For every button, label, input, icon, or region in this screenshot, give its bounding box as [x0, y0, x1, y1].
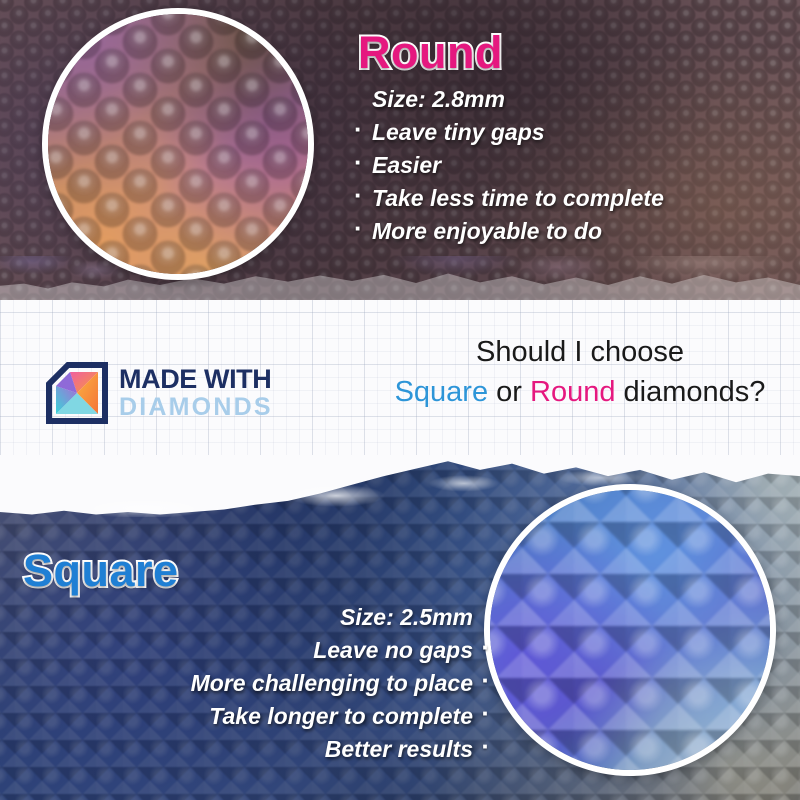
brand-name-line2: DIAMONDS [119, 395, 273, 420]
headline-square-word: Square [395, 376, 489, 408]
square-bullet-3: Take longer to complete [20, 700, 490, 733]
square-bullet-2: More challenging to place [20, 667, 490, 700]
square-title-wrap: Square [20, 548, 490, 593]
round-bullet-3: Take less time to complete [358, 182, 798, 215]
diamond-gem-icon [46, 362, 108, 424]
headline-question: Should I choose Square or Round diamonds… [380, 332, 780, 412]
headline-line-1: Should I choose [380, 332, 780, 372]
headline-line-2: Square or Round diamonds? [380, 372, 780, 412]
headline-conjunction: or [488, 376, 530, 408]
square-size-row: Size: 2.5mm [20, 601, 490, 634]
headline-line-1-text: Should I choose [476, 336, 684, 368]
square-section-title: Square [23, 545, 179, 596]
brand-name-line1: MADE WITH [119, 366, 273, 393]
brand-logo[interactable]: MADE WITH DIAMONDS [46, 362, 273, 424]
round-diamonds-magnifier-circle [42, 8, 314, 280]
square-bullet-1: Leave no gaps [20, 634, 490, 667]
round-section-title: Round [358, 30, 798, 75]
round-bullet-2: Easier [358, 149, 798, 182]
round-bullet-4: More enjoyable to do [358, 215, 798, 248]
round-circle-beads-offset [42, 8, 314, 280]
brand-logo-text: MADE WITH DIAMONDS [119, 366, 273, 420]
headline-round-word: Round [530, 376, 615, 408]
round-feature-list: Size: 2.8mm Leave tiny gaps Easier Take … [358, 83, 798, 248]
infographic-canvas: Round Size: 2.8mm Leave tiny gaps Easier… [0, 0, 800, 800]
square-bullet-4: Better results [20, 733, 490, 766]
square-info-panel: Square Size: 2.5mm Leave no gaps More ch… [20, 548, 490, 766]
round-size-row: Size: 2.8mm [358, 83, 798, 116]
round-bullet-1: Leave tiny gaps [358, 116, 798, 149]
headline-tail: diamonds? [615, 376, 765, 408]
round-info-panel: Round Size: 2.8mm Leave tiny gaps Easier… [358, 30, 798, 248]
square-feature-list: Size: 2.5mm Leave no gaps More challengi… [20, 601, 490, 766]
square-circle-highlights [484, 484, 776, 776]
square-diamonds-magnifier-circle [484, 484, 776, 776]
